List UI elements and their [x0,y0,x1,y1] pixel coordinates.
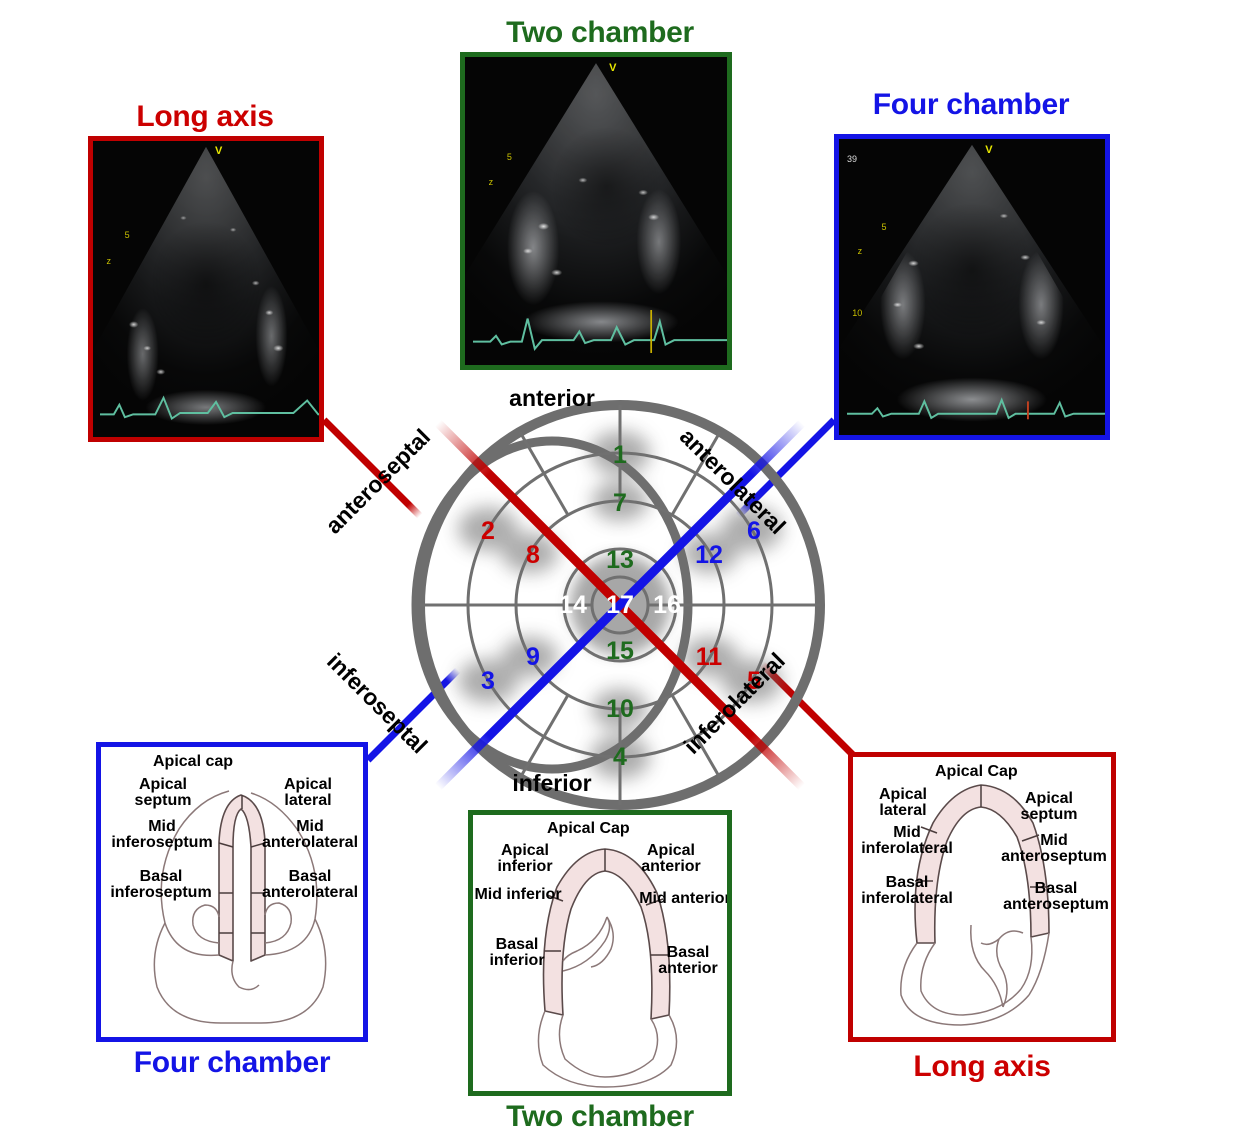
panel-title-top-right: Four chamber [836,88,1106,122]
label-basal-anteroseptum: Basal anteroseptum [993,881,1116,914]
depth-tick: z [489,177,494,187]
echo-image-long-axis: V 5 z [88,136,324,442]
segment-15: 15 [606,637,634,665]
segment-13: 13 [606,546,634,574]
label-apical-septum: Apical septum [115,777,211,810]
label-basal-inferolateral: Basal inferolateral [848,875,967,908]
segment-10: 10 [606,695,634,723]
label-mid-anterolateral: Mid anterolateral [251,819,368,852]
depth-tick: 5 [507,152,512,162]
segment-1: 1 [613,441,627,469]
segment-2: 2 [481,517,495,545]
label-apical-anterior: Apical anterior [623,843,719,876]
orientation-label-anterior: anterior [509,385,595,412]
depth-tick: z [858,246,863,256]
depth-tick: 5 [125,230,130,240]
segment-16: 16 [653,591,681,619]
label-mid-inferior: Mid inferior [473,887,563,903]
label-apical-septum: Apical septum [1003,791,1095,824]
label-apical-inferior: Apical inferior [479,843,571,876]
label-basal-inferior: Basal inferior [471,937,563,970]
echo-canvas-two-chamber: V 5 z [465,57,727,365]
panel-title-top-left: Long axis [90,100,320,134]
segment-8: 8 [526,541,540,569]
label-apical-lateral: Apical lateral [859,787,947,820]
segment-17: 17 [606,591,634,619]
segment-11: 11 [696,643,723,671]
label-mid-inferoseptum: Mid inferoseptum [101,819,223,852]
label-mid-anterior: Mid anterior [639,891,731,907]
label-apical-cap: Apical cap [153,753,233,771]
label-basal-anterolateral: Basal anterolateral [249,869,368,902]
label-basal-anterior: Basal anterior [641,945,732,978]
schematic-four-chamber: Apical cap Apical septum Apical lateral … [96,742,368,1042]
schematic-long-axis: Apical Cap Apical lateral Apical septum … [848,752,1116,1042]
segment-4: 4 [613,743,627,771]
panel-title-bottom-center: Two chamber [468,1100,732,1134]
label-apical-cap: Apical Cap [935,763,1018,781]
label-basal-inferoseptum: Basal inferoseptum [97,869,225,902]
segment-14: 14 [559,591,587,619]
schematic-two-chamber: Apical Cap Apical inferior Apical anteri… [468,810,732,1096]
segment-12: 12 [695,541,723,569]
depth-tick: 10 [852,308,862,318]
depth-tick: 5 [882,222,887,232]
label-apical-lateral: Apical lateral [265,777,351,810]
segment-3: 3 [481,667,495,695]
apex-marker-icon: V [609,62,616,74]
label-mid-anteroseptum: Mid anteroseptum [993,833,1115,866]
panel-title-bottom-left: Four chamber [100,1046,364,1080]
panel-title-bottom-right: Long axis [848,1050,1116,1084]
segment-9: 9 [526,643,540,671]
depth-tick: z [107,256,112,266]
echo-canvas-long-axis: V 5 z [93,141,319,437]
ultrasound-speckle [93,141,319,437]
ultrasound-speckle [465,57,727,365]
segment-7: 7 [613,489,627,517]
apex-marker-icon: V [985,144,992,156]
gain-label: 39 [847,154,857,164]
panel-title-top-center: Two chamber [470,16,730,50]
label-apical-cap: Apical Cap [547,820,630,838]
echo-image-two-chamber: V 5 z [460,52,732,370]
orientation-label-inferior: inferior [512,770,591,797]
label-mid-inferolateral: Mid inferolateral [849,825,965,858]
apex-marker-icon: V [215,145,222,157]
